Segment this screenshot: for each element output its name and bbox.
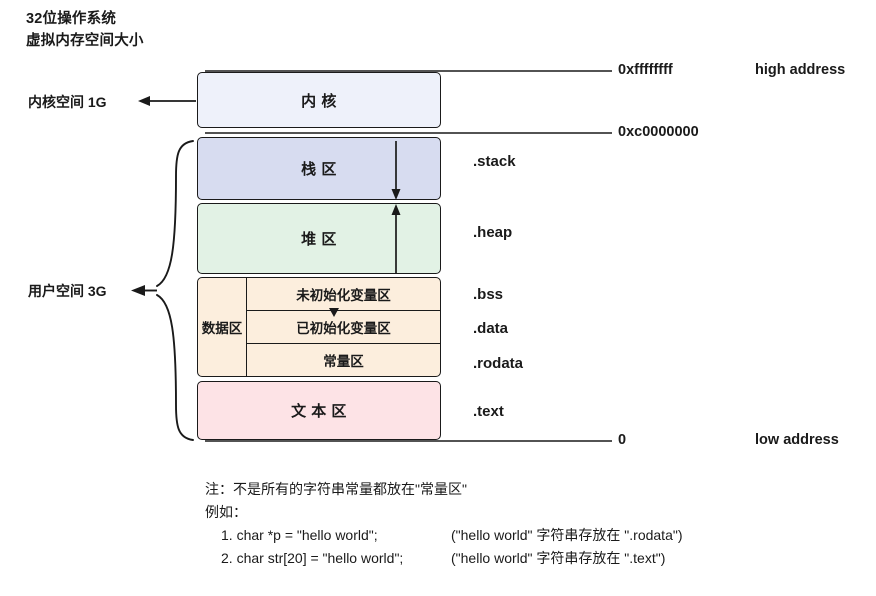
edge-label-low-address: low address xyxy=(755,432,839,448)
note-line-1: 注：不是所有的字符串常量都放在"常量区" xyxy=(205,478,865,501)
stack-grow-down-arrow xyxy=(392,141,401,200)
note-example-1-code: 1. char *p = "hello world"; xyxy=(221,524,451,547)
segment-label-rodata: .rodata xyxy=(473,355,523,372)
label-kernel-space: 内核空间 1G xyxy=(28,92,107,112)
note-example-2: 2. char str[20] = "hello world";("hello … xyxy=(221,547,865,570)
note-block: 注：不是所有的字符串常量都放在"常量区" 例如： 1. char *p = "h… xyxy=(205,478,865,570)
segment-label-data: .data xyxy=(473,320,508,337)
segment-label-heap: .heap xyxy=(473,224,512,241)
address-label-bottom: 0 xyxy=(618,432,626,448)
note-example-1-comment: ("hello world" 字符串存放在 ".rodata") xyxy=(451,527,683,543)
user-space-brace xyxy=(157,141,193,440)
bss-to-data-arrow xyxy=(329,308,339,317)
heap-grow-up-arrow xyxy=(392,204,401,274)
note-examples: 1. char *p = "hello world";("hello world… xyxy=(221,524,865,570)
kernel-space-pointer xyxy=(138,96,196,106)
label-user-space: 用户空间 3G xyxy=(28,281,107,301)
user-space-pointer-arrow xyxy=(131,285,157,296)
address-label-top: 0xffffffff xyxy=(618,62,673,78)
note-example-2-code: 2. char str[20] = "hello world"; xyxy=(221,547,451,570)
diagram-canvas: 32位操作系统 虚拟内存空间大小 内 核 栈 区 堆 区 数据区 未初始化变量区… xyxy=(0,0,876,596)
note-line-2: 例如： xyxy=(205,501,865,524)
segment-label-bss: .bss xyxy=(473,286,503,303)
segment-label-stack: .stack xyxy=(473,153,516,170)
segment-label-text: .text xyxy=(473,403,504,420)
address-label-kernel-boundary: 0xc0000000 xyxy=(618,124,699,140)
edge-label-high-address: high address xyxy=(755,62,845,78)
note-example-1: 1. char *p = "hello world";("hello world… xyxy=(221,524,865,547)
note-example-2-comment: ("hello world" 字符串存放在 ".text") xyxy=(451,550,665,566)
